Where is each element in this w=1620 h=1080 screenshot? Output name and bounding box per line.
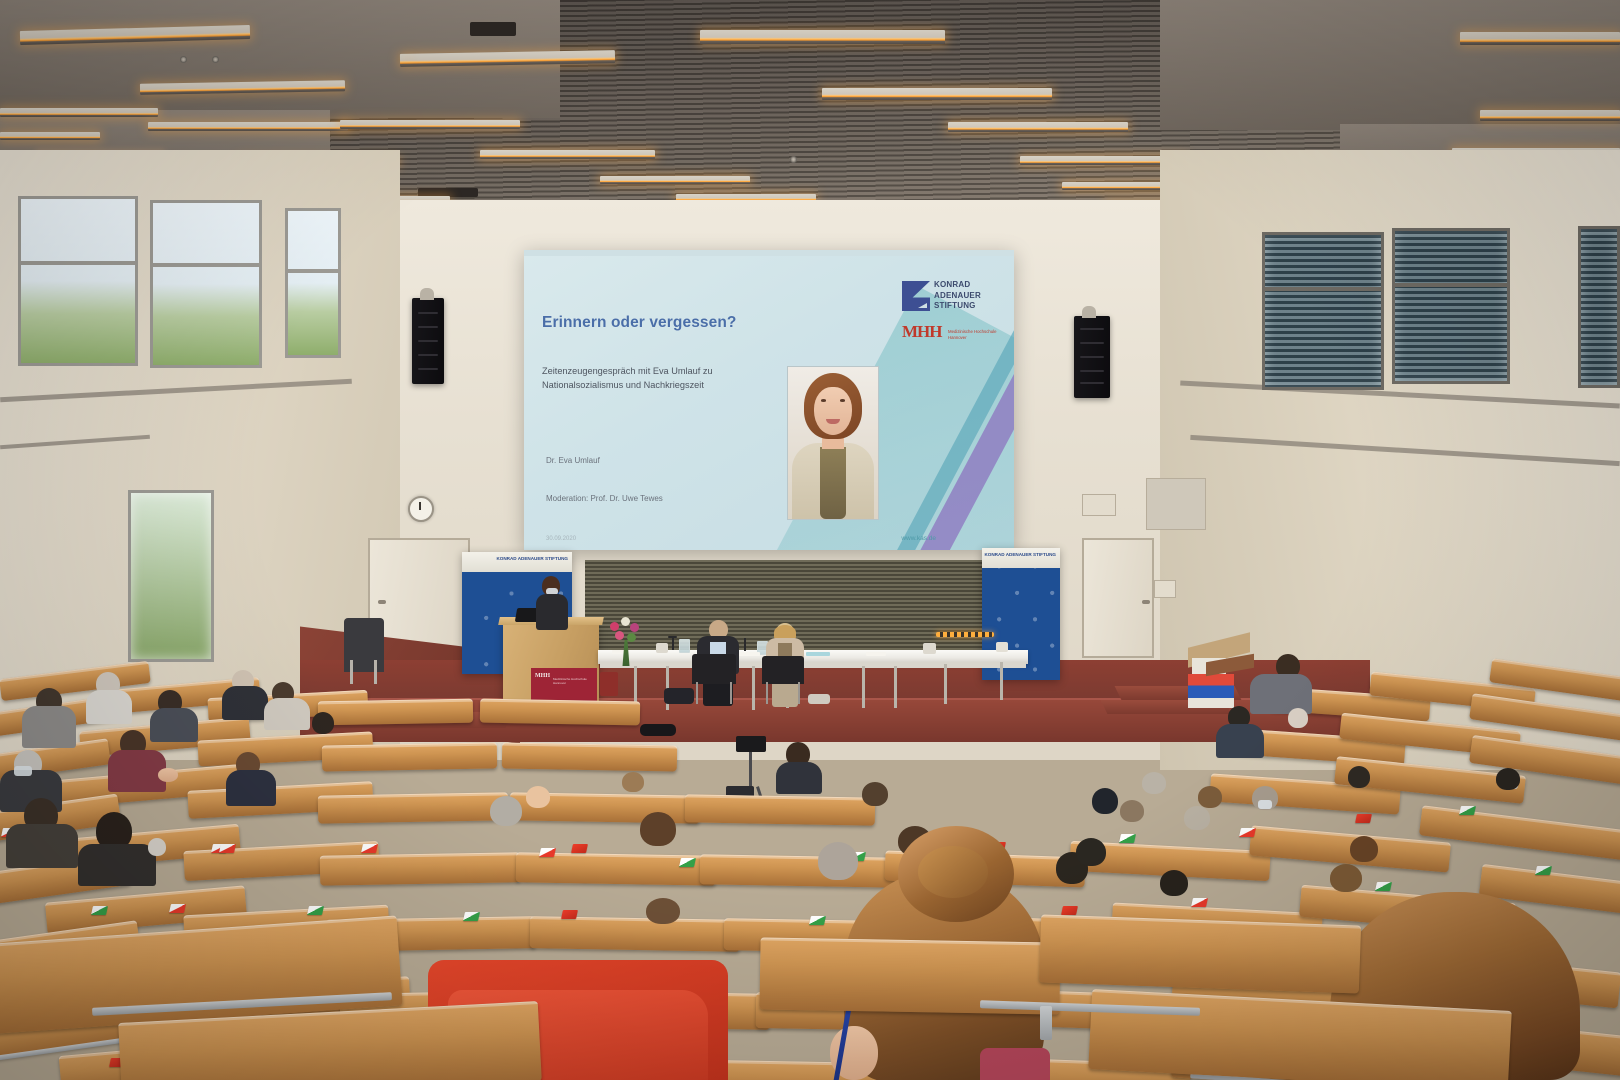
wall-clock bbox=[408, 496, 434, 522]
audience-torso bbox=[22, 706, 76, 748]
stage-led-strip bbox=[936, 632, 994, 637]
mhh-sub-line-1: Medizinische Hochschule bbox=[948, 329, 1000, 335]
ceiling-sensor-2 bbox=[212, 56, 219, 63]
ceiling-sensor-4 bbox=[790, 156, 797, 163]
distancing-marker bbox=[1535, 866, 1552, 875]
slide-subtitle-line-2: Nationalsozialismus und Nachkriegszeit bbox=[542, 378, 792, 392]
distancing-marker bbox=[809, 916, 826, 925]
audience-torso bbox=[264, 698, 310, 730]
bench-desk bbox=[318, 792, 508, 823]
distancing-marker bbox=[1191, 898, 1208, 907]
kas-line-1: KONRAD bbox=[934, 280, 981, 291]
slide-url: www.kas.de bbox=[901, 535, 936, 542]
projection-screen: KONRAD ADENAUER STIFTUNG MHH Medizinisch… bbox=[524, 250, 1014, 550]
ceiling-lamp bbox=[1480, 110, 1620, 121]
audience-head bbox=[1184, 806, 1210, 830]
konrad-adenauer-stiftung-logo: KONRAD ADENAUER STIFTUNG bbox=[902, 280, 1002, 314]
audience-head bbox=[1120, 800, 1144, 822]
window-lower-left bbox=[128, 490, 214, 662]
window-upper-right-3 bbox=[1578, 226, 1620, 388]
audience-head bbox=[1348, 766, 1370, 788]
audience-torso bbox=[776, 762, 822, 794]
audience-torso bbox=[78, 844, 156, 886]
left-line-array-speaker bbox=[412, 298, 444, 384]
distancing-marker bbox=[361, 844, 378, 853]
hair-bun-highlight bbox=[918, 846, 988, 898]
ceiling-lamp bbox=[148, 122, 348, 131]
mhh-sub-line-2: Hannover bbox=[948, 335, 1000, 341]
right-speaker-bracket bbox=[1082, 306, 1096, 318]
distancing-marker bbox=[169, 904, 186, 913]
face-mask bbox=[1258, 800, 1272, 809]
ceiling-lamp bbox=[480, 150, 655, 159]
slide-subtitle: Zeitenzeugengespräch mit Eva Umlauf zu N… bbox=[542, 364, 792, 392]
audience-head bbox=[622, 772, 644, 792]
distancing-marker bbox=[1239, 828, 1256, 837]
audience-head bbox=[490, 796, 522, 826]
slide-portrait-photo bbox=[787, 366, 879, 520]
flower bbox=[630, 623, 639, 632]
audience-head bbox=[1142, 772, 1166, 794]
slide-title: Erinnern oder vergessen? bbox=[542, 314, 737, 332]
audience-head bbox=[1288, 708, 1308, 728]
slide-subtitle-line-1: Zeitenzeugengespräch mit Eva Umlauf zu bbox=[542, 364, 792, 378]
flower-foliage bbox=[627, 633, 636, 642]
foreground-shoulder bbox=[980, 1048, 1050, 1080]
audience-head bbox=[312, 712, 334, 734]
ceiling-lamp bbox=[822, 88, 1052, 100]
distancing-marker bbox=[1061, 906, 1078, 915]
distancing-marker bbox=[1459, 806, 1476, 815]
ceiling-lamp bbox=[0, 132, 100, 140]
seat-bracket bbox=[1040, 1006, 1052, 1040]
audience-torso bbox=[150, 708, 198, 742]
distancing-marker bbox=[463, 912, 480, 921]
wall-niche-right bbox=[1146, 478, 1206, 530]
flower bbox=[615, 631, 624, 640]
microphone-arm bbox=[668, 636, 677, 638]
audience-hand bbox=[158, 768, 178, 782]
slide-speaker-name: Dr. Eva Umlauf bbox=[546, 456, 600, 465]
audience-head bbox=[1092, 788, 1118, 814]
ceiling-lamp bbox=[700, 30, 945, 44]
audience-torso bbox=[222, 686, 268, 720]
distancing-marker bbox=[561, 910, 578, 919]
audience-torso bbox=[86, 690, 132, 724]
audience-head bbox=[646, 898, 680, 924]
door-right-stage[interactable] bbox=[1082, 538, 1154, 658]
window-upper-right-1 bbox=[1262, 232, 1384, 390]
audience-head bbox=[1160, 870, 1188, 896]
bench-desk bbox=[322, 742, 497, 771]
mhh-logo: MHH Medizinische Hochschule Hannover bbox=[902, 322, 998, 348]
distancing-marker bbox=[571, 844, 588, 853]
flower bbox=[621, 617, 630, 626]
ceiling-lamp bbox=[0, 108, 158, 117]
distancing-marker bbox=[307, 906, 324, 915]
distancing-marker bbox=[679, 858, 696, 867]
banner-left-logo-text: KONRAD ADENAUER STIFTUNG bbox=[496, 556, 568, 561]
face-mask bbox=[14, 766, 32, 776]
window-upper-left-1 bbox=[18, 196, 138, 366]
banner-right-header: KONRAD ADENAUER STIFTUNG bbox=[982, 548, 1060, 568]
bench-desk-foreground bbox=[1039, 914, 1361, 993]
kas-logo-text: KONRAD ADENAUER STIFTUNG bbox=[934, 280, 981, 312]
bench-desk bbox=[685, 794, 875, 825]
audience-torso bbox=[6, 824, 78, 868]
audience-head bbox=[640, 812, 676, 846]
distancing-marker bbox=[91, 906, 108, 915]
window-upper-left-2 bbox=[150, 200, 262, 368]
audience-torso bbox=[226, 770, 276, 806]
flower bbox=[610, 622, 619, 631]
banner-right-logo-text: KONRAD ADENAUER STIFTUNG bbox=[984, 552, 1056, 557]
kas-logo-mark bbox=[902, 281, 930, 311]
window-upper-left-3 bbox=[285, 208, 341, 358]
left-speaker-bracket bbox=[420, 288, 434, 300]
ceiling-vent-1 bbox=[470, 22, 516, 36]
stage-acoustic-wall bbox=[585, 560, 1045, 660]
ceiling-lamp bbox=[600, 176, 750, 184]
window-upper-right-2 bbox=[1392, 228, 1510, 384]
slide-date: 30.09.2020 bbox=[546, 536, 576, 542]
audience-torso bbox=[1216, 724, 1264, 758]
presentation-slide: KONRAD ADENAUER STIFTUNG MHH Medizinisch… bbox=[524, 256, 1014, 550]
audience-head bbox=[1496, 768, 1520, 790]
audience-torso bbox=[1250, 674, 1312, 714]
ceiling-lamp bbox=[1460, 32, 1620, 45]
ceiling-sensor-1 bbox=[180, 56, 187, 63]
lecture-hall-scene: KONRAD ADENAUER STIFTUNG MHH Medizinisch… bbox=[0, 0, 1620, 1080]
mhh-logo-subtitle: Medizinische Hochschule Hannover bbox=[948, 329, 1000, 340]
bench-desk bbox=[480, 699, 640, 726]
distancing-marker bbox=[1375, 882, 1392, 891]
slide-moderation: Moderation: Prof. Dr. Uwe Tewes bbox=[546, 494, 663, 503]
bench-desk bbox=[502, 742, 677, 771]
audience-head bbox=[148, 838, 166, 856]
kas-line-3: STIFTUNG bbox=[934, 301, 981, 312]
distancing-marker bbox=[539, 848, 556, 857]
distancing-marker bbox=[1119, 834, 1136, 843]
ceiling-lamp bbox=[948, 122, 1128, 132]
distancing-marker bbox=[1355, 814, 1372, 823]
audience-torso bbox=[108, 750, 166, 792]
banner-left-header: KONRAD ADENAUER STIFTUNG bbox=[462, 552, 572, 572]
bench-desk bbox=[318, 699, 473, 726]
bench-desk bbox=[530, 916, 741, 952]
mhh-logo-mark: MHH bbox=[902, 322, 942, 342]
kas-line-2: ADENAUER bbox=[934, 291, 981, 302]
distancing-marker bbox=[219, 844, 236, 853]
audience-head bbox=[862, 782, 888, 806]
audience-head bbox=[526, 786, 550, 808]
audience-head bbox=[1330, 864, 1362, 892]
bench-desk bbox=[700, 854, 900, 887]
audience-head bbox=[818, 842, 858, 880]
bench-desk bbox=[320, 852, 520, 885]
wall-panel-upper-right bbox=[1082, 494, 1116, 516]
audience-head bbox=[1350, 836, 1378, 862]
audience-head bbox=[1076, 838, 1106, 866]
ceiling-lamp bbox=[340, 120, 520, 129]
wall-panel-right bbox=[1154, 580, 1176, 598]
right-line-array-speaker bbox=[1074, 316, 1110, 398]
audience-head bbox=[1198, 786, 1222, 808]
